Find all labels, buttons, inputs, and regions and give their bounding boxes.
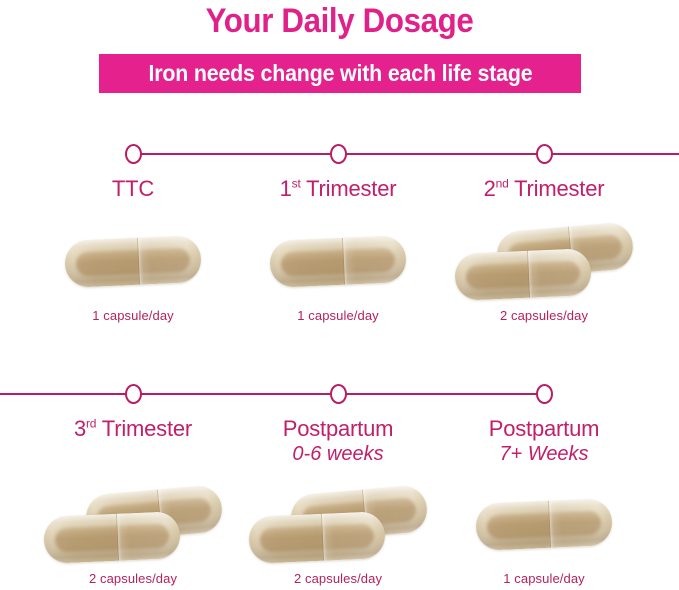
caption-3rd-trimester: 2 capsules/day [20, 571, 246, 586]
dosage-caption: 2 capsules/day [431, 308, 657, 323]
stage-1st-trimester: 1st Trimester [225, 176, 451, 202]
stage-label-ordinal: rd [86, 417, 96, 431]
stage-label: Postpartum [225, 416, 451, 442]
stage-label-suffix: Trimester [509, 176, 605, 201]
timeline-node-1st-trimester[interactable] [330, 144, 347, 164]
dosage-caption: 2 capsules/day [225, 571, 451, 586]
capsule [475, 498, 613, 551]
capsule-group-ttc [20, 222, 246, 312]
capsule [269, 235, 407, 288]
stage-postpartum-0-6-weeks: Postpartum 0-6 weeks [225, 416, 451, 466]
dosage-caption: 2 capsules/day [20, 571, 246, 586]
capsule [43, 511, 181, 564]
timeline-row-1 [0, 141, 679, 167]
stage-label-suffix: Trimester [96, 416, 192, 441]
stage-label: 2nd Trimester [431, 176, 657, 202]
capsule [454, 248, 592, 301]
stage-sublabel: 0-6 weeks [225, 442, 451, 466]
stage-label-text: Postpartum [283, 416, 394, 441]
capsule-group-3rd-trimester [20, 485, 246, 575]
timeline-line [133, 153, 679, 155]
stage-label-ordinal: nd [496, 177, 509, 191]
stage-postpartum-7plus-weeks: Postpartum 7+ Weeks [431, 416, 657, 466]
capsule [64, 235, 202, 288]
dosage-caption: 1 capsule/day [225, 308, 451, 323]
stage-label-suffix: Trimester [301, 176, 397, 201]
stage-label: TTC [20, 176, 246, 202]
stage-label: Postpartum [431, 416, 657, 442]
timeline-node-3rd-trimester[interactable] [125, 384, 142, 404]
stage-label-text: Postpartum [489, 416, 600, 441]
dosage-caption: 1 capsule/day [20, 308, 246, 323]
stage-label-text: TTC [112, 176, 154, 201]
banner-text: Iron needs change with each life stage [148, 60, 532, 87]
timeline-node-postpartum-0-6[interactable] [330, 384, 347, 404]
stage-label-ordinal: st [292, 177, 301, 191]
dosage-caption: 1 capsule/day [431, 571, 657, 586]
stage-label-text: 1 [280, 176, 292, 201]
stage-label: 3rd Trimester [20, 416, 246, 442]
timeline-line [0, 393, 544, 395]
stage-2nd-trimester: 2nd Trimester [431, 176, 657, 202]
timeline-node-2nd-trimester[interactable] [536, 144, 553, 164]
caption-ttc: 1 capsule/day [20, 308, 246, 323]
page-title: Your Daily Dosage [27, 2, 652, 41]
stage-label: 1st Trimester [225, 176, 451, 202]
caption-postpartum-7plus-weeks: 1 capsule/day [431, 571, 657, 586]
timeline-node-ttc[interactable] [125, 144, 142, 164]
caption-2nd-trimester: 2 capsules/day [431, 308, 657, 323]
capsule-group-1st-trimester [225, 222, 451, 312]
stage-sublabel: 7+ Weeks [431, 442, 657, 466]
stage-label-text: 3 [74, 416, 86, 441]
capsule [248, 511, 386, 564]
stage-label-text: 2 [484, 176, 496, 201]
capsule-group-postpartum-7plus-weeks [431, 485, 657, 575]
stage-ttc: TTC [20, 176, 246, 202]
capsule-group-postpartum-0-6-weeks [225, 485, 451, 575]
caption-1st-trimester: 1 capsule/day [225, 308, 451, 323]
timeline-node-postpartum-7plus[interactable] [536, 384, 553, 404]
capsule-group-2nd-trimester [431, 222, 657, 312]
highlight-banner: Iron needs change with each life stage [99, 54, 581, 93]
timeline-row-2 [0, 381, 679, 407]
stage-3rd-trimester: 3rd Trimester [20, 416, 246, 442]
caption-postpartum-0-6-weeks: 2 capsules/day [225, 571, 451, 586]
